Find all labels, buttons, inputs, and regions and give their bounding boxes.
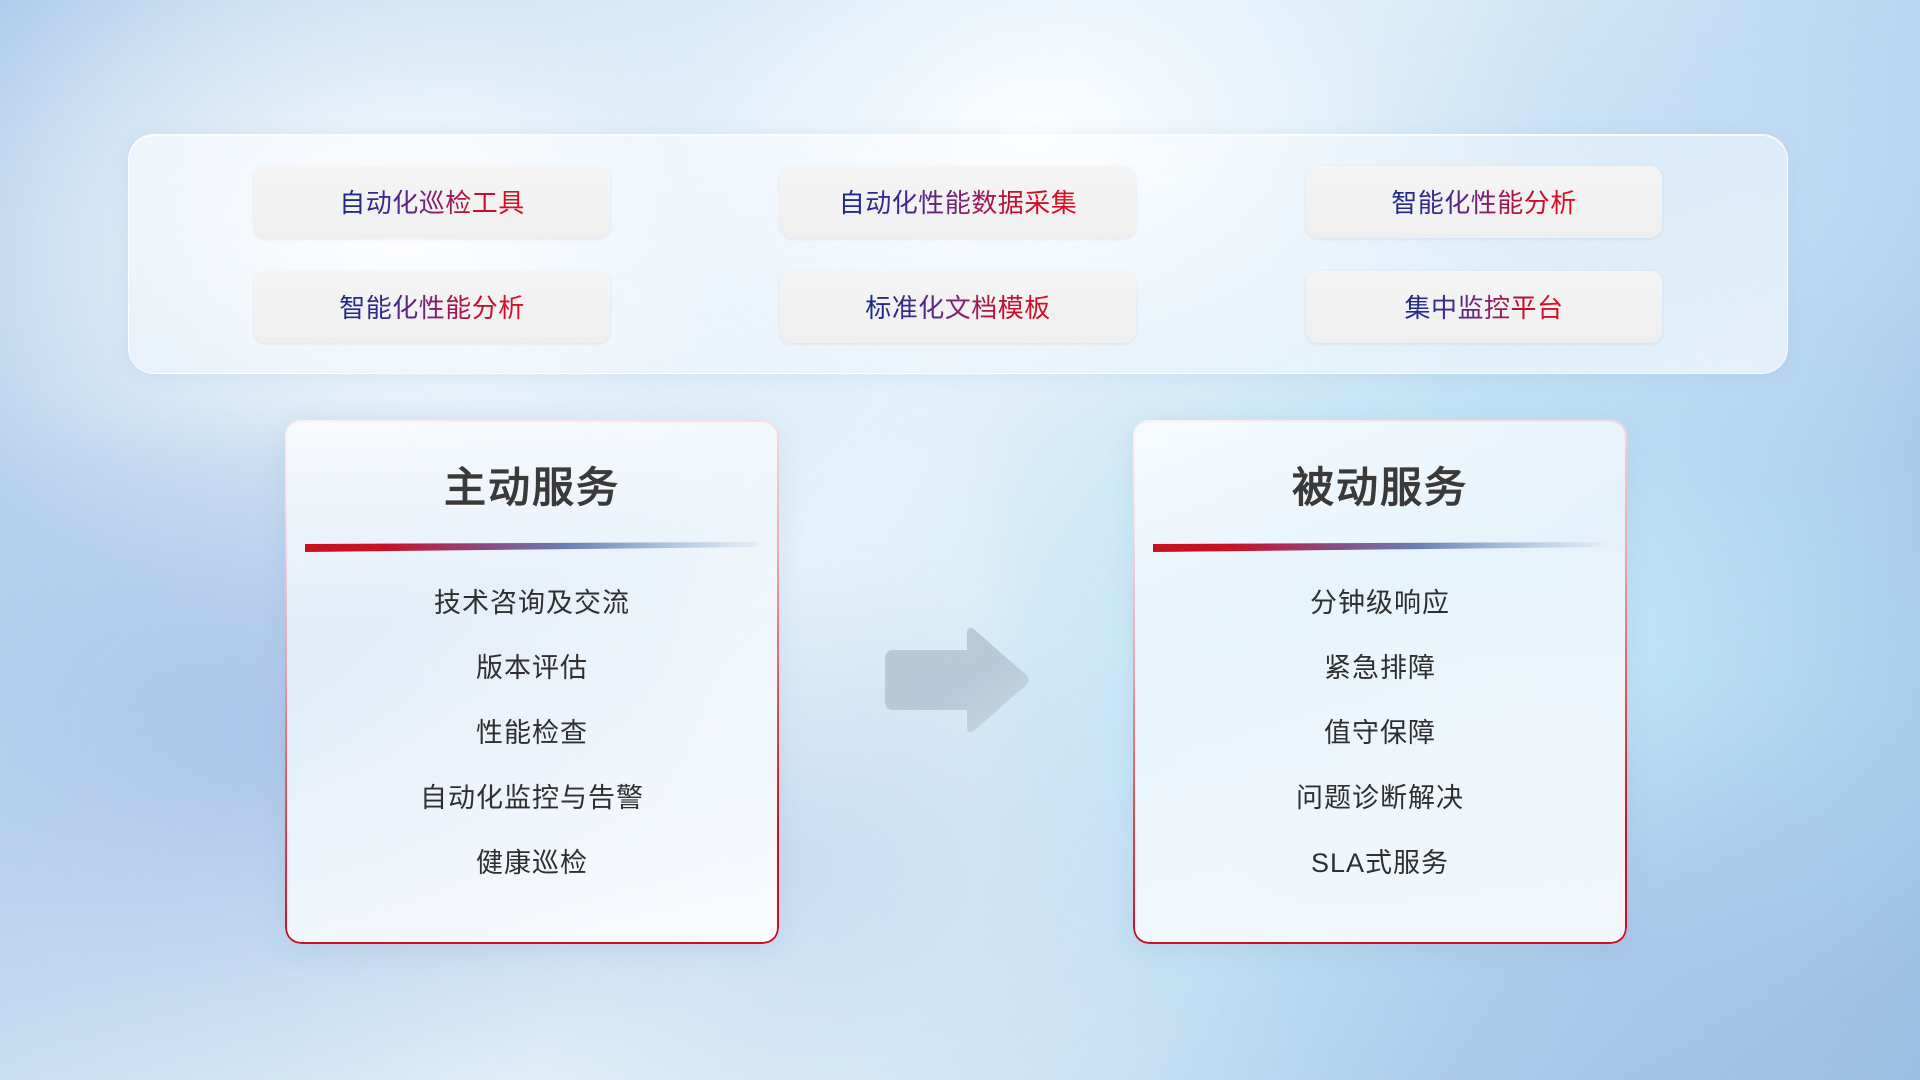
tool-pill-label: 智能化性能分析 [1391, 183, 1577, 220]
passive-service-divider [1153, 541, 1607, 555]
tool-pill-5[interactable]: 集中监控平台 [1306, 271, 1662, 343]
list-item: 问题诊断解决 [1296, 776, 1464, 815]
tool-pill-label: 自动化性能数据采集 [839, 183, 1078, 220]
tool-pill-label: 自动化巡检工具 [339, 183, 525, 220]
passive-service-card: 被动服务 分钟级响应 紧急排障 值守保障 问题诊断解决 SLA式服务 [1133, 420, 1627, 944]
list-item: 技术咨询及交流 [434, 581, 630, 620]
tool-pill-2[interactable]: 智能化性能分析 [1306, 166, 1662, 238]
list-item: 值守保障 [1324, 711, 1436, 750]
tool-pill-label: 集中监控平台 [1404, 288, 1563, 325]
passive-service-title: 被动服务 [1133, 454, 1627, 515]
tools-panel: 自动化巡检工具 自动化性能数据采集 智能化性能分析 智能化性能分析 标准化文档模… [128, 134, 1788, 374]
tool-pill-1[interactable]: 自动化性能数据采集 [780, 166, 1136, 238]
list-item: 健康巡检 [476, 841, 588, 880]
active-service-divider [305, 541, 759, 555]
tool-pill-0[interactable]: 自动化巡检工具 [254, 166, 610, 238]
active-service-card: 主动服务 技术咨询及交流 版本评估 性能检查 自动化监控与告警 健康巡检 [285, 420, 779, 944]
tool-pill-label: 标准化文档模板 [865, 288, 1051, 325]
passive-service-list: 分钟级响应 紧急排障 值守保障 问题诊断解决 SLA式服务 [1133, 581, 1627, 880]
tool-pill-4[interactable]: 标准化文档模板 [780, 271, 1136, 343]
list-item: 紧急排障 [1324, 646, 1436, 685]
active-service-list: 技术咨询及交流 版本评估 性能检查 自动化监控与告警 健康巡检 [285, 581, 779, 880]
list-item: 分钟级响应 [1310, 581, 1450, 620]
active-service-title: 主动服务 [285, 454, 779, 515]
tool-pill-label: 智能化性能分析 [339, 288, 525, 325]
arrow-right-icon [875, 620, 1035, 740]
list-item: SLA式服务 [1311, 841, 1449, 880]
list-item: 版本评估 [476, 646, 588, 685]
list-item: 自动化监控与告警 [420, 776, 644, 815]
list-item: 性能检查 [476, 711, 588, 750]
tool-pill-3[interactable]: 智能化性能分析 [254, 271, 610, 343]
